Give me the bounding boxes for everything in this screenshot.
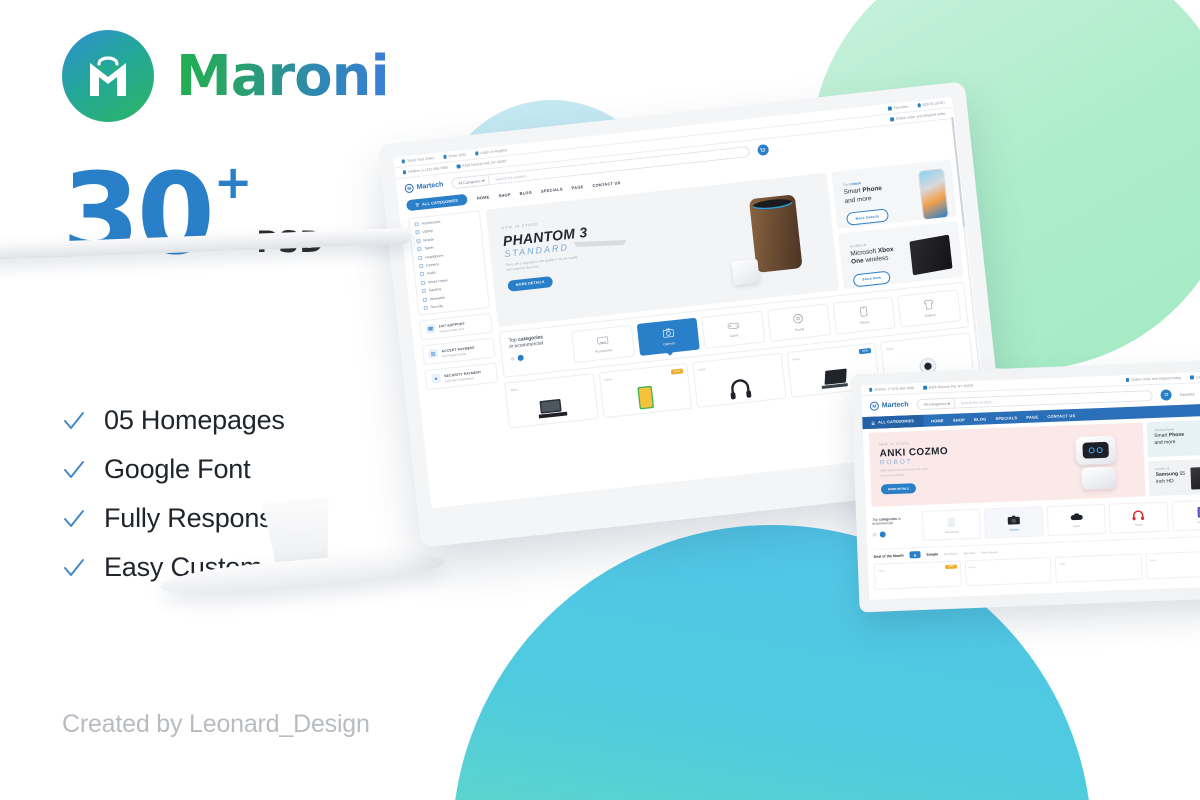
product-card[interactable]: Audio (692, 353, 786, 408)
address-label: 8426 Netcom Rd, NY 40297 (462, 159, 507, 168)
all-categories-label: ALL CATEGORIES (878, 419, 914, 424)
hero-description: Make friends with Anki Cozmo the robot, … (880, 467, 934, 479)
cart-button[interactable] (757, 144, 769, 156)
check-icon (62, 458, 86, 482)
laptop-side-banner-column: Checking Warmly Smart Phone and more (1147, 419, 1200, 496)
category-tile-phone[interactable]: Phone (832, 296, 896, 334)
category-tile-camera[interactable]: Camera (984, 506, 1044, 538)
login-register-label: Login or Register (1195, 374, 1200, 379)
list-item: 05 Homepages (62, 396, 306, 445)
product-badge: SALE (945, 565, 956, 569)
category-tile-label: Phone (860, 320, 870, 325)
banner-title-bold: Samsung (1156, 471, 1179, 478)
feature-label: 05 Homepages (104, 405, 285, 436)
home-icon (421, 281, 425, 285)
search-input[interactable]: Search the product... (955, 390, 1153, 409)
category-tile-label: Accessories (945, 530, 959, 534)
deal-tabs: Best Seller New Item Most Viewed (944, 550, 997, 556)
nav-link-shop[interactable]: SHOP (498, 192, 511, 198)
tv-image (1190, 466, 1200, 489)
category-tile-game[interactable]: Game (1047, 504, 1107, 536)
track-order-label: Track Your Order (407, 156, 435, 163)
check-icon (62, 409, 86, 433)
shipping-label: Online order and shipped today (1131, 376, 1181, 382)
favorites-link[interactable]: Favorites (1180, 392, 1195, 397)
deal-tab-best-seller[interactable]: Best Seller (944, 551, 958, 556)
robot-head (1075, 435, 1116, 465)
martech-logo[interactable]: M Martech (404, 180, 444, 193)
list-item: Google Font (62, 445, 306, 494)
category-tile-label: Game (1073, 524, 1080, 527)
anki-cozmo-robot-image (1075, 435, 1121, 491)
nav-link-contact[interactable]: CONTACT US (1047, 412, 1075, 418)
shipping-note: Online order and shipped today (1126, 376, 1182, 382)
category-tile-camera[interactable]: Camera (636, 318, 700, 356)
carousel-dots[interactable] (873, 530, 919, 538)
robot-eye-left (1089, 447, 1095, 453)
category-tile-label: Clothes (925, 313, 936, 318)
product-badge: NEW (859, 348, 872, 354)
hero-cta-button[interactable]: MORE DETAILS (507, 276, 553, 292)
robot-eye-right (1097, 447, 1103, 453)
iphone-x-image (918, 168, 949, 221)
sidebar-item-label: Mobile (423, 237, 434, 242)
banner-title: Smart Phone and more (1154, 430, 1200, 446)
top-categories-label-line2: ecommercial (872, 521, 893, 526)
tablet-keyboard-image (536, 396, 568, 421)
xbox-console-image (909, 235, 952, 276)
nav-link-home[interactable]: HOME (931, 418, 944, 423)
watch-icon (423, 297, 427, 301)
product-tag: Home (886, 347, 894, 352)
camera-icon (419, 264, 423, 268)
carousel-dots[interactable] (510, 350, 568, 362)
nav-link-page[interactable]: PAGE (1026, 414, 1038, 419)
laptop-icon (415, 230, 419, 234)
nav-link-blog[interactable]: BLOG (519, 190, 532, 196)
phone-icon (403, 170, 407, 174)
laptop-hero-banner[interactable]: NEW IN STOCK ANKI COZMO ROBOT Make frien… (869, 422, 1146, 506)
product-card[interactable]: Phone (964, 557, 1051, 586)
carousel-dot-active[interactable] (880, 531, 886, 537)
product-card[interactable]: Tablet (504, 373, 598, 428)
category-tile-sound[interactable]: Sound (1109, 502, 1169, 534)
sidebar-category-list: Accessories Laptop Mobile Tablet Headpho… (408, 210, 490, 315)
banner-title-bold: Xbox (878, 245, 894, 254)
product-tag: Smart (792, 357, 800, 362)
header-links: Favorites $29.00 (USD) (1180, 391, 1200, 397)
all-categories-label: ALL CATEGORIES (422, 198, 458, 206)
truck-icon (1126, 378, 1130, 382)
banner-title-line2: and more (1154, 439, 1175, 446)
banner-title-light: Smart (1154, 432, 1168, 439)
gamepad-icon (422, 289, 426, 293)
banner-title-bold: Phone (862, 185, 882, 194)
side-banner-column: Free Unlock Smart Phone and more (831, 159, 963, 289)
laptop-bezel: Hotline: (+123) 456-7890 8426 Netcom Rd,… (851, 360, 1200, 613)
phone-icon (869, 388, 873, 392)
payment-card: ▤ ACCEPT PAYMENT For Paypal Harder (422, 338, 496, 366)
carousel-dot-active[interactable] (517, 355, 524, 362)
sidebar-item-label: Wearable (430, 295, 445, 301)
headset-icon: ☎ (426, 324, 436, 334)
sidebar-item-label: Smart Home (428, 278, 448, 284)
hero-description: There are a upgrade for the quality to b… (505, 255, 580, 274)
track-order-link[interactable]: Track Your Order (402, 156, 435, 164)
banner-title-line2: inch HD (1156, 478, 1174, 485)
product-card[interactable]: Audio (1055, 554, 1142, 583)
psd-count-plus: + (214, 159, 253, 205)
product-tag: Tablet (878, 569, 885, 572)
shield-icon: ● (431, 374, 441, 384)
martech-logo-text: Martech (416, 181, 443, 191)
product-tag: Audio (698, 367, 706, 372)
category-select[interactable]: All Categories (451, 174, 490, 189)
banner-kicker-accent: Unlock (850, 181, 861, 186)
hamburger-icon: ☰ (871, 420, 875, 425)
mobile-icon (416, 239, 420, 243)
truck-icon (890, 117, 894, 121)
banner-title-light: 55 (1179, 471, 1185, 477)
sidebar-item-security[interactable]: Security (424, 299, 484, 309)
deal-tab-new-item[interactable]: New Item (964, 550, 976, 554)
banner-title-bold: Phone (1169, 432, 1185, 439)
product-tag: Tablet (510, 387, 518, 392)
deal-title: Deal of the Month (873, 553, 903, 558)
tag-icon (414, 222, 418, 226)
top-categories-heading: Top categories in ecommercial (506, 332, 569, 370)
credit-text: Created by Leonard_Design (62, 710, 370, 739)
product-card[interactable]: Smart NEW (1145, 550, 1200, 579)
top-categories-heading: Top categories in ecommercial (872, 516, 919, 538)
user-icon (1190, 376, 1194, 380)
banner-cta-button[interactable]: More Details (846, 209, 889, 226)
surface-tablet-image (818, 368, 850, 391)
cart-total-label: $29.00 (USD) (923, 101, 945, 107)
address-label: 8426 Netcom Rd, NY 40297 (929, 384, 974, 390)
login-register-link[interactable]: Login or Register (1190, 374, 1200, 379)
category-tile-label: Accessories (595, 347, 613, 353)
nav-link-blog[interactable]: BLOG (974, 416, 987, 421)
sidebar-item-label: Tablet (424, 246, 434, 251)
sidebar-item-label: Laptop (422, 229, 433, 234)
heart-icon (888, 107, 892, 111)
martech-logo-icon: M (870, 402, 879, 411)
payment-card-subtitle: For Paypal Harder (442, 352, 467, 359)
banner-title-light: Smart (843, 187, 861, 196)
martech-laptop-site: Hotline: (+123) 456-7890 8426 Netcom Rd,… (861, 371, 1200, 600)
category-select[interactable]: All Categories (916, 398, 955, 410)
order-region-select[interactable]: Order (US) (443, 153, 466, 159)
support-card-subtitle: Support every time (439, 327, 464, 334)
box-icon (402, 159, 406, 163)
sidebar-item-label: Security (430, 304, 443, 309)
nav-link-home[interactable]: HOME (477, 194, 490, 200)
check-icon (62, 507, 86, 531)
headphones-image (728, 376, 752, 400)
robot-face (1082, 442, 1109, 459)
category-tile-label: Sound (795, 327, 805, 332)
carousel-dot[interactable] (511, 357, 515, 361)
globe-icon (443, 155, 447, 159)
laptop-banner-smart-phone[interactable]: Checking Warmly Smart Phone and more (1147, 419, 1200, 457)
brand-name: Maroni (176, 44, 389, 109)
category-tile-phone[interactable]: Phone (1171, 499, 1200, 531)
sidebar-item-label: Accessories (421, 220, 440, 226)
audio-icon (420, 272, 424, 276)
login-register-label: Login or Register (480, 148, 508, 155)
category-tile-label: Sound (1135, 523, 1143, 526)
nav-link-specials[interactable]: SPECIALS (541, 186, 563, 193)
laptop-mockup: Hotline: (+123) 456-7890 8426 Netcom Rd,… (851, 360, 1200, 613)
category-tile-label: Camera (1010, 528, 1019, 531)
nav-link-specials[interactable]: SPECIALS (995, 415, 1017, 421)
product-card[interactable]: Phone SALE (598, 363, 692, 418)
hotline-item: Hotline: (+123) 456-7890 (403, 166, 448, 175)
banner-title-line2-light: wireless (865, 255, 889, 264)
product-tag: Phone (604, 377, 612, 382)
sidebar-item-label: Gaming (429, 287, 442, 292)
sidebar-item-label: Audio (427, 271, 436, 276)
pin-icon (457, 165, 461, 169)
sidebar-item-label: Headphone (425, 253, 443, 259)
product-tag: Smart (1149, 559, 1156, 562)
favorites-label: Favorites (894, 105, 909, 111)
hero-cta-button[interactable]: MORE DETAILS (881, 483, 916, 494)
product-tag: Audio (1059, 562, 1065, 565)
pin-icon (923, 386, 927, 390)
banner-kicker-plain: Free (843, 182, 850, 187)
maroni-bag-m-logo-icon (62, 30, 154, 122)
sidebar-item-label: Camera (426, 262, 439, 267)
poster-canvas: Maroni 30 + PSD 05 Homepages Google Font… (0, 0, 1200, 800)
banner-smart-phone[interactable]: Free Unlock Smart Phone and more (831, 159, 956, 228)
hotline-label: Hotline: (+123) 456-7890 (874, 386, 914, 392)
banner-title-line2-bold: One (851, 257, 864, 265)
support-card: ☎ 24/7 SUPPORT Support every time (419, 313, 493, 341)
banner-xbox[interactable]: Get 50% off Microsoft Xbox One wireless … (838, 220, 963, 289)
tablet-icon (417, 247, 421, 251)
cart-button[interactable] (1161, 389, 1172, 400)
product-card[interactable]: Tablet SALE (874, 560, 961, 589)
product-tag: Phone (969, 566, 976, 569)
cart-icon (917, 103, 921, 107)
carousel-dot[interactable] (873, 533, 877, 537)
martech-logo-text: Martech (882, 401, 909, 409)
card-icon: ▤ (428, 349, 438, 359)
banner-title-line2: and more (844, 195, 872, 205)
laptop-site-body: NEW IN STOCK ANKI COZMO ROBOT Make frien… (863, 415, 1200, 600)
category-tile-accessories[interactable]: Accessories (922, 509, 982, 541)
address-item: 8426 Netcom Rd, NY 40297 (923, 384, 973, 390)
security-card-subtitle: SCR and Guaranteed (445, 376, 474, 383)
top-categories-label-tail: in (897, 517, 901, 521)
category-tile-label: Camera (663, 341, 675, 346)
category-tile-clothes[interactable]: Clothes (898, 289, 962, 327)
product-badge: SALE (670, 368, 683, 374)
green-phone-image (637, 385, 655, 411)
category-tile-label: Game (730, 333, 739, 338)
order-region-label: Order (US) (448, 153, 466, 159)
user-icon (475, 152, 479, 156)
deal-active-tab[interactable]: Simple (926, 552, 938, 556)
banner-cta-button[interactable]: Shop Now (853, 270, 891, 287)
login-register-link[interactable]: Login or Register (475, 148, 508, 156)
nav-link-shop[interactable]: SHOP (953, 417, 965, 422)
martech-logo[interactable]: M Martech (870, 400, 909, 410)
feature-label: Google Font (104, 454, 250, 485)
shield-icon (424, 306, 428, 310)
nav-link-page[interactable]: PAGE (571, 184, 583, 190)
grid-icon[interactable]: ▦ (910, 551, 921, 558)
security-card: ● SECURITY PAYMENT SCR and Guaranteed (424, 362, 498, 390)
laptop-banner-samsung-tv[interactable]: Get 50% off Samsung 55 inch HD (1148, 458, 1200, 496)
martech-logo-icon: M (404, 183, 414, 193)
laptop-hero-row: NEW IN STOCK ANKI COZMO ROBOT Make frien… (869, 419, 1200, 507)
category-tile-game[interactable]: Game (702, 311, 766, 349)
hamburger-icon: ☰ (415, 202, 419, 207)
headphone-icon (418, 255, 422, 259)
nav-link-contact[interactable]: CONTACT US (592, 180, 621, 188)
smart-plug-image (732, 259, 760, 286)
category-tile-accessories[interactable]: Accessories (571, 325, 635, 363)
cart-total[interactable]: $29.00 (USD) (917, 101, 945, 108)
category-tile-sound[interactable]: Sound (767, 303, 831, 341)
hotline-label: Hotline: (+123) 456-7890 (408, 166, 448, 174)
deal-tab-most-viewed[interactable]: Most Viewed (981, 550, 997, 555)
hotline-item: Hotline: (+123) 456-7890 (869, 386, 914, 392)
brand-logo-row: Maroni (62, 30, 389, 122)
laptop-screen: Hotline: (+123) 456-7890 8426 Netcom Rd,… (861, 371, 1200, 600)
check-icon (62, 556, 86, 580)
robot-body (1081, 466, 1116, 489)
favorites-link[interactable]: Favorites (888, 105, 908, 111)
